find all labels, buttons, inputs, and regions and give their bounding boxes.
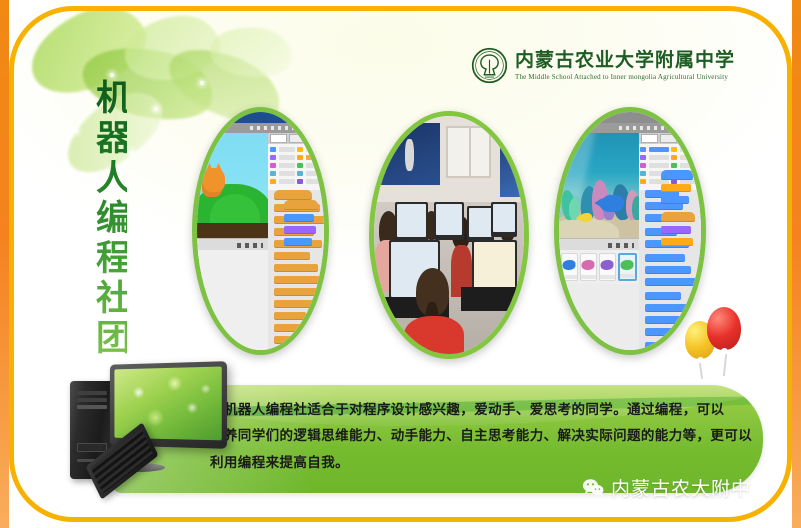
monitor-wallpaper bbox=[114, 367, 221, 441]
desktop-computer-illustration bbox=[44, 359, 234, 491]
photo-scratch-underwater-project[interactable] bbox=[554, 107, 706, 355]
photo-scratch-cat-project[interactable] bbox=[192, 107, 329, 355]
balloon-decoration bbox=[685, 307, 751, 385]
description-line-3: 利用编程来提高自我。 bbox=[210, 450, 747, 476]
page-title: 机器人编程社团 bbox=[92, 79, 127, 359]
blue-fish-sprite bbox=[600, 195, 624, 212]
photo-computer-classroom[interactable] bbox=[369, 111, 529, 359]
wechat-watermark: 内蒙古农大附中 bbox=[582, 474, 751, 501]
yellow-fish-sprite bbox=[580, 213, 592, 222]
left-edge-stripe bbox=[0, 0, 9, 528]
tree-emblem-icon bbox=[471, 47, 508, 84]
sprite-thumb[interactable] bbox=[599, 253, 616, 281]
scratch-cat-sprite bbox=[203, 168, 225, 192]
wechat-account-label: 内蒙古农大附中 bbox=[611, 474, 751, 501]
wechat-icon bbox=[582, 478, 604, 497]
description-text: 机器人编程社适合于对程序设计感兴趣，爱动手、爱思考的同学。通过编程，可以 培养同… bbox=[224, 397, 747, 476]
right-edge-stripe bbox=[792, 0, 801, 528]
poster-canvas: 内蒙古农业大学附属中学 The Middle School Attached t… bbox=[0, 0, 801, 528]
sprite-thumb[interactable] bbox=[561, 253, 578, 281]
red-balloon bbox=[707, 307, 741, 350]
school-identity: 内蒙古农业大学附属中学 The Middle School Attached t… bbox=[471, 47, 735, 84]
sprite-thumb[interactable] bbox=[580, 253, 597, 281]
school-name-en: The Middle School Attached to Inner mong… bbox=[515, 73, 735, 81]
poster-background: 内蒙古农业大学附属中学 The Middle School Attached t… bbox=[14, 11, 787, 517]
description-line-2: 培养同学们的逻辑思维能力、动手能力、自主思考能力、解决实际问题的能力等，更可以 bbox=[210, 423, 747, 449]
description-line-1: 机器人编程社适合于对程序设计感兴趣，爱动手、爱思考的同学。通过编程，可以 bbox=[224, 397, 747, 423]
school-name-cn: 内蒙古农业大学附属中学 bbox=[515, 50, 735, 71]
sprite-thumb-selected[interactable] bbox=[618, 253, 637, 281]
